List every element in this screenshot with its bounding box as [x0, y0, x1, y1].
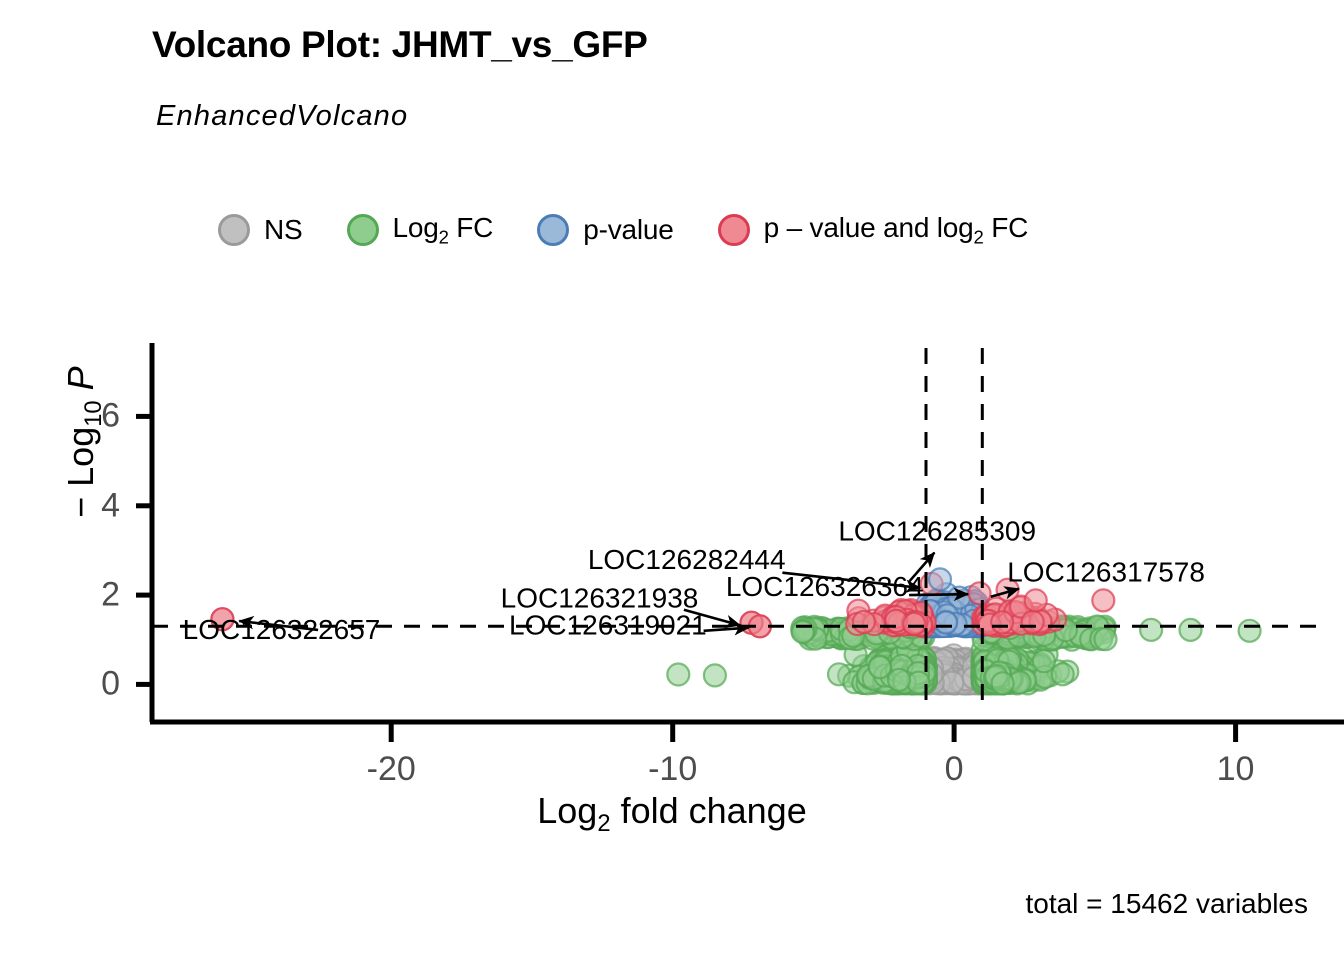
data-point	[888, 669, 910, 691]
gene-label-connector	[704, 628, 749, 631]
y-axis-title-sub: 10	[80, 400, 107, 426]
y-axis-title-main: − Log	[60, 427, 101, 518]
x-axis-title-main: Log	[537, 790, 597, 831]
x-axis-tick-label: 0	[894, 750, 1014, 789]
data-point	[1180, 619, 1202, 641]
total-variables-caption: total = 15462 variables	[1025, 888, 1308, 920]
threshold-lines	[152, 348, 1320, 700]
data-point	[1092, 589, 1114, 611]
data-point	[792, 621, 814, 643]
data-point	[853, 611, 875, 633]
data-point	[969, 582, 991, 604]
gene-label: LOC126285309	[838, 516, 1036, 547]
gene-label: LOC126319021	[509, 609, 707, 640]
x-axis-title: Log2 fold change	[0, 790, 1344, 838]
data-point	[667, 664, 689, 686]
data-point	[992, 672, 1014, 694]
gene-label: LOC126326364	[726, 571, 924, 602]
data-point	[1140, 619, 1162, 641]
y-axis-title: − Log10 P	[60, 302, 108, 582]
y-axis-title-tail: P	[60, 366, 101, 390]
data-point	[935, 612, 957, 634]
x-axis-tick-label: 10	[1176, 750, 1296, 789]
y-axis-tick-label: 0	[60, 665, 120, 704]
data-point	[991, 611, 1013, 633]
axis-layer	[136, 343, 1344, 742]
data-point	[1095, 628, 1117, 650]
data-point	[1052, 663, 1074, 685]
data-point	[929, 568, 951, 590]
x-axis-tick-label: -10	[613, 750, 733, 789]
x-axis-title-sub: 2	[597, 810, 610, 837]
data-point	[1025, 589, 1047, 611]
gene-label: LOC126317578	[1007, 557, 1205, 588]
gene-label: LOC126322657	[183, 614, 381, 645]
data-point	[704, 664, 726, 686]
data-point	[869, 656, 891, 678]
x-axis-tick-label: -20	[331, 750, 451, 789]
data-point	[1033, 650, 1055, 672]
data-point	[1239, 620, 1261, 642]
x-axis-title-tail: fold change	[611, 790, 807, 831]
data-point	[903, 613, 925, 635]
data-point	[1022, 611, 1044, 633]
